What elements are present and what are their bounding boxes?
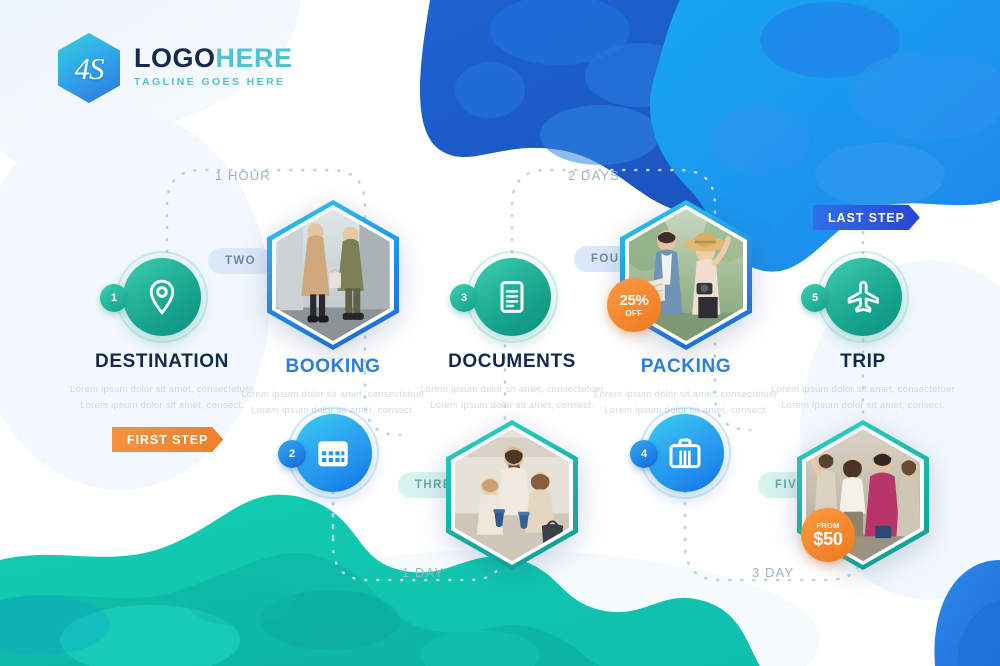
time-label-two-days: 2 DAYS — [568, 168, 620, 183]
discount-value: 25% — [619, 293, 648, 308]
step-title-destination: DESTINATION — [62, 351, 262, 373]
location-pin-icon — [142, 277, 182, 317]
time-label-one-hour: 1 HOUR — [215, 168, 271, 183]
step-column-documents[interactable]: 3 DOCUMENTS Lorem ipsum dolor sit amet, … — [412, 258, 612, 414]
airplane-icon — [843, 277, 883, 317]
shopping-couple-photo[interactable] — [267, 200, 399, 350]
first-step-badge[interactable]: FIRST STEP — [112, 427, 223, 452]
step-number-2: 2 — [278, 440, 306, 468]
step-column-trip[interactable]: 5 TRIP Lorem ipsum dolor sit amet, conse… — [763, 258, 963, 414]
discount-label: OFF — [625, 310, 642, 318]
step-number-3: 3 — [450, 284, 478, 312]
logo-secondary-text: HERE — [216, 43, 293, 73]
brand-text: LOGOHERE TAGLINE GOES HERE — [134, 45, 293, 91]
brand-logo[interactable]: 4S LOGOHERE TAGLINE GOES HERE — [58, 33, 293, 103]
booking-medallion-wrap[interactable]: 2 — [294, 414, 372, 492]
document-icon — [492, 277, 532, 317]
step-title-documents: DOCUMENTS — [412, 351, 612, 373]
step-number-1: 1 — [100, 284, 128, 312]
packing-medallion-wrap[interactable]: 4 — [646, 414, 724, 492]
price-badge[interactable]: FROM $50 — [801, 508, 855, 562]
time-label-one-day: 1 DAY — [402, 565, 444, 580]
step-desc-trip: Lorem ipsum dolor sit amet, consectetuer… — [763, 382, 963, 414]
step-desc-destination: Lorem ipsum dolor sit amet, consectetuer… — [62, 382, 262, 414]
step-title-booking: BOOKING — [233, 356, 433, 378]
family-cafe-photo-wrap[interactable] — [446, 420, 578, 570]
family-cafe-photo[interactable] — [446, 420, 578, 570]
time-label-three-day: 3 DAY — [752, 565, 794, 580]
infographic-canvas: 4S LOGOHERE TAGLINE GOES HERE 1 HOUR 2 D… — [0, 0, 1000, 666]
price-value: $50 — [813, 530, 842, 548]
discount-badge[interactable]: 25% OFF — [607, 278, 661, 332]
last-step-badge[interactable]: LAST STEP — [813, 205, 920, 230]
step-column-booking[interactable]: BOOKING Lorem ipsum dolor sit amet, cons… — [233, 200, 433, 419]
logo-mark-text: 4S — [75, 53, 104, 84]
destination-medallion[interactable] — [123, 258, 201, 336]
logo-hexagon-icon: 4S — [58, 33, 120, 103]
step-column-destination[interactable]: 1 DESTINATION Lorem ipsum dolor sit amet… — [62, 258, 262, 414]
documents-medallion[interactable] — [473, 258, 551, 336]
price-prefix: FROM — [816, 522, 839, 530]
brand-tagline: TAGLINE GOES HERE — [134, 77, 293, 88]
trip-medallion[interactable] — [824, 258, 902, 336]
calendar-icon — [313, 433, 353, 473]
suitcase-icon — [665, 433, 705, 473]
step-title-packing: PACKING — [586, 356, 786, 378]
logo-primary-text: LOGO — [134, 43, 216, 73]
step-number-4: 4 — [630, 440, 658, 468]
step-desc-documents: Lorem ipsum dolor sit amet, consectetuer… — [412, 382, 612, 414]
step-title-trip: TRIP — [763, 351, 963, 373]
step-number-5: 5 — [801, 284, 829, 312]
